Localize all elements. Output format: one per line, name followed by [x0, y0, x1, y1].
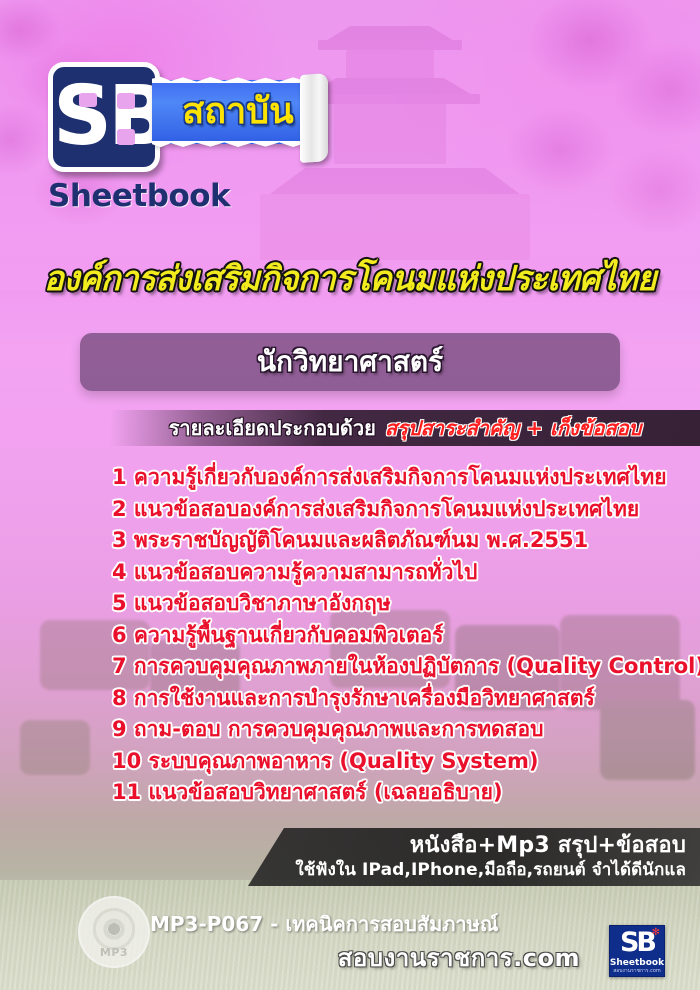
list-item: 6 ความรู้พื้นฐานเกี่ยวกับคอมพิวเตอร์: [112, 620, 692, 652]
list-item: 9 ถาม-ตอบ การควบคุมคุณภาพและการทดสอบ: [112, 714, 692, 746]
footer-logo-sub: สอบงานราชการ.com: [613, 968, 661, 975]
ribbon-label: สถาบัน: [152, 80, 324, 144]
mp3-title: MP3-P067 - เทคนิคการสอบสัมภาษณ์: [150, 908, 498, 940]
list-item: 5 แนวข้อสอบวิชาภาษาอังกฤษ: [112, 588, 692, 620]
brand-wordmark: Sheetbook: [48, 178, 230, 214]
details-label: รายละเอียดประกอบด้วย: [169, 412, 376, 444]
footer-logo-name: Sheetbook: [610, 958, 664, 968]
list-item: 10 ระบบคุณภาพอาหาร (Quality System): [112, 746, 692, 778]
position-title: นักวิทยาศาสตร์: [257, 340, 443, 384]
list-item: 1 ความรู้เกี่ยวกับองค์การส่งเสริมกิจการโ…: [112, 462, 692, 494]
sb-monogram-text: SB: [53, 63, 155, 173]
torn-paper-ribbon: สถาบัน: [152, 80, 324, 144]
list-item: 2 แนวข้อสอบองค์การส่งเสริมกิจการโคนมแห่ง…: [112, 494, 692, 526]
topic-list: 1 ความรู้เกี่ยวกับองค์การส่งเสริมกิจการโ…: [112, 462, 692, 809]
promo-banner: หนังสือ+Mp3 สรุป+ข้อสอบ ใช้ฟังใน IPad,IP…: [248, 828, 700, 886]
details-highlight: สรุปสาระสำคัญ + เก็งข้อสอบ: [385, 412, 641, 444]
footer-logo-mark: SB: [620, 927, 654, 958]
paper-curl-icon: [300, 73, 328, 163]
background-tree-right: [470, 0, 700, 250]
promo-line-2: ใช้ฟังใน IPad,IPhone,มือถือ,รถยนต์ จำได้…: [248, 859, 686, 882]
list-item: 4 แนวข้อสอบความรู้ความสามารถทั่วไป: [112, 557, 692, 589]
details-strip: รายละเอียดประกอบด้วย สรุปสาระสำคัญ + เก็…: [110, 410, 700, 446]
star-icon: ✻: [652, 928, 660, 938]
list-item: 11 แนวข้อสอบวิทยาศาสตร์ (เฉลยอธิบาย): [112, 777, 692, 809]
promo-line-1: หนังสือ+Mp3 สรุป+ข้อสอบ: [248, 832, 686, 859]
sb-monogram-icon: SB: [48, 62, 160, 172]
footer-brand-logo: ✻ SB Sheetbook สอบงานราชการ.com: [609, 925, 665, 977]
website-url: สอบงานราชการ.com: [0, 938, 700, 977]
brand-logo: SB สถาบัน Sheetbook: [48, 62, 348, 212]
organization-title: องค์การส่งเสริมกิจการโคนมแห่งประเทศไทย: [11, 258, 690, 301]
list-item: 3 พระราชบัญญัติโคนมและผลิตภัณฑ์นม พ.ศ.25…: [112, 525, 692, 557]
list-item: 8 การใช้งานและการบำรุงรักษาเครื่องมือวิท…: [112, 683, 692, 715]
list-item: 7 การควบคุมคุณภาพภายในห้องปฏิบัตการ (Qua…: [112, 651, 692, 683]
position-title-box: นักวิทยาศาสตร์: [80, 333, 620, 391]
product-poster: SB สถาบัน Sheetbook องค์การส่งเสริมกิจกา…: [0, 0, 700, 990]
